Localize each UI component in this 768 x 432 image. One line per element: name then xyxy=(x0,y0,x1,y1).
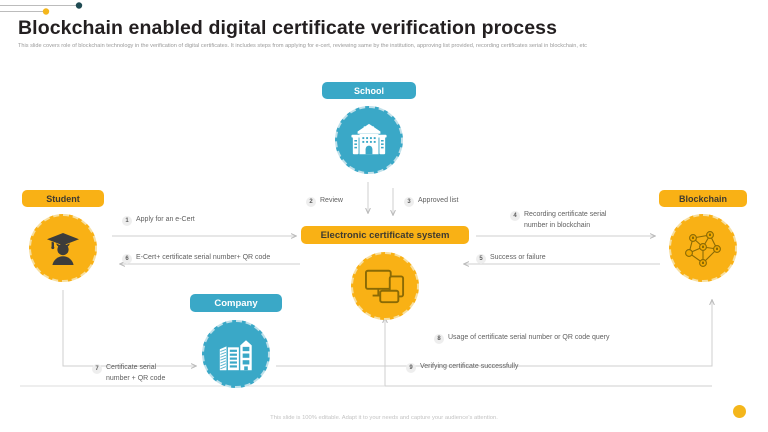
step-1-number: 1 xyxy=(122,216,132,226)
step-4: 4 Recording certificate serial number in… xyxy=(510,210,606,231)
step-6-number: 6 xyxy=(122,254,132,264)
page-title: Blockchain enabled digital certificate v… xyxy=(18,17,738,40)
corner-accent-dot xyxy=(733,405,746,418)
company-label-pill: Company xyxy=(190,294,282,312)
step-6-text: E-Cert+ certificate serial number+ QR co… xyxy=(136,253,270,264)
office-buildings-icon xyxy=(216,334,256,374)
step-7-text: Certificate serial number + QR code xyxy=(106,363,165,384)
school-label-pill: School xyxy=(322,82,416,99)
system-icon-circle xyxy=(351,252,419,320)
blockchain-label-pill: Blockchain xyxy=(659,190,747,207)
node-student[interactable]: Student xyxy=(28,190,98,290)
node-blockchain[interactable]: Blockchain xyxy=(668,190,738,290)
step-9: 9 Verifying certificate successfully xyxy=(406,362,518,373)
step-6: 6 E-Cert+ certificate serial number+ QR … xyxy=(122,253,270,264)
step-7-number: 7 xyxy=(92,364,102,374)
step-3: 3 Approved list xyxy=(404,196,458,207)
school-icon-circle xyxy=(335,106,403,174)
blockchain-network-icon xyxy=(679,224,727,272)
blockchain-label: Blockchain xyxy=(679,194,727,204)
school-label: School xyxy=(354,86,384,96)
company-label: Company xyxy=(214,298,257,309)
step-5: 5 Success or failure xyxy=(476,253,546,264)
node-school[interactable]: School xyxy=(334,82,404,182)
step-2: 2 Review xyxy=(306,196,343,207)
footer-note: This slide is 100% editable. Adapt it to… xyxy=(0,415,768,421)
step-7: 7 Certificate serial number + QR code xyxy=(92,363,165,384)
school-building-icon xyxy=(350,121,388,159)
company-icon-circle xyxy=(202,320,270,388)
step-5-text: Success or failure xyxy=(490,253,546,264)
step-8-number: 8 xyxy=(434,334,444,344)
step-2-text: Review xyxy=(320,196,343,207)
system-label: Electronic certificate system xyxy=(321,230,450,241)
step-9-text: Verifying certificate successfully xyxy=(420,362,518,373)
node-electronic-certificate-system[interactable]: Electronic certificate system xyxy=(350,226,420,322)
step-4-text: Recording certificate serial number in b… xyxy=(524,210,606,231)
slide-canvas: Blockchain enabled digital certificate v… xyxy=(0,0,768,432)
step-1: 1 Apply for an e-Cert xyxy=(122,215,195,226)
student-label: Student xyxy=(46,194,80,204)
step-1-text: Apply for an e-Cert xyxy=(136,215,195,226)
step-5-number: 5 xyxy=(476,254,486,264)
step-9-number: 9 xyxy=(406,363,416,373)
step-3-number: 3 xyxy=(404,197,414,207)
step-3-text: Approved list xyxy=(418,196,458,207)
step-4-number: 4 xyxy=(510,211,520,221)
system-label-pill: Electronic certificate system xyxy=(301,226,469,244)
step-8: 8 Usage of certificate serial number or … xyxy=(434,333,609,344)
student-label-pill: Student xyxy=(22,190,104,207)
step-8-text: Usage of certificate serial number or QR… xyxy=(448,333,609,344)
student-icon-circle xyxy=(29,214,97,282)
node-company[interactable]: Company xyxy=(201,294,271,390)
page-subtitle: This slide covers role of blockchain tec… xyxy=(18,42,718,52)
graduate-student-icon xyxy=(43,228,83,268)
devices-icon xyxy=(363,266,407,306)
blockchain-icon-circle xyxy=(669,214,737,282)
step-2-number: 2 xyxy=(306,197,316,207)
